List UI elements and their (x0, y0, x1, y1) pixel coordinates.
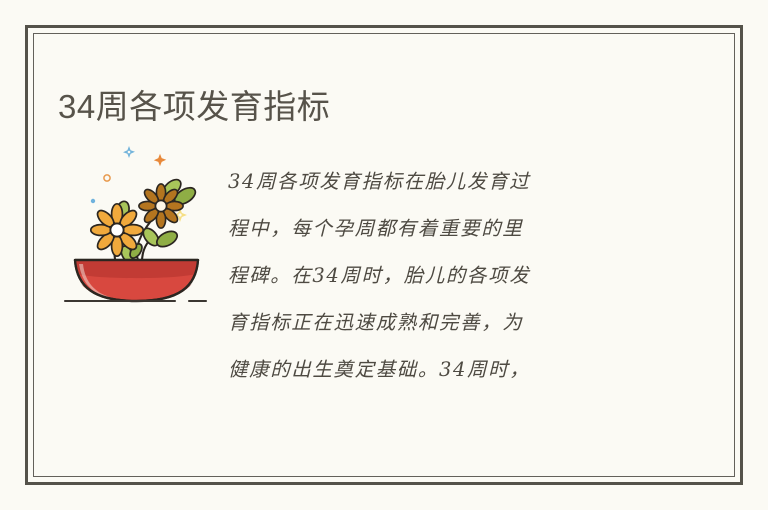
blue-dot-sparkle (91, 199, 95, 203)
orange-dot-sparkle (104, 175, 110, 181)
article-body: 34周各项发育指标在胎儿发育过 程中，每个孕周都有着重要的里 程碑。在34周时，… (228, 158, 660, 393)
article-content: 34周各项发育指标在胎儿发育过 程中，每个孕周都有着重要的里 程碑。在34周时，… (33, 130, 735, 477)
body-line: 健康的出生奠定基础。34周时， (228, 346, 660, 393)
article-page: 34周各项发育指标 (0, 0, 768, 510)
front-flower (91, 204, 143, 256)
orange-star-sparkle (154, 154, 166, 166)
potted-flowers-illustration (63, 138, 223, 313)
flower-pot (75, 260, 198, 301)
body-line: 程碑。在34周时，胎儿的各项发 (228, 252, 660, 299)
body-line: 育指标正在迅速成熟和完善，为 (228, 299, 660, 346)
body-line: 34周各项发育指标在胎儿发育过 (228, 158, 660, 205)
back-flower (139, 184, 183, 228)
body-line: 程中，每个孕周都有着重要的里 (228, 205, 660, 252)
page-title: 34周各项发育指标 (58, 85, 330, 129)
blue-star-sparkle (123, 146, 135, 158)
